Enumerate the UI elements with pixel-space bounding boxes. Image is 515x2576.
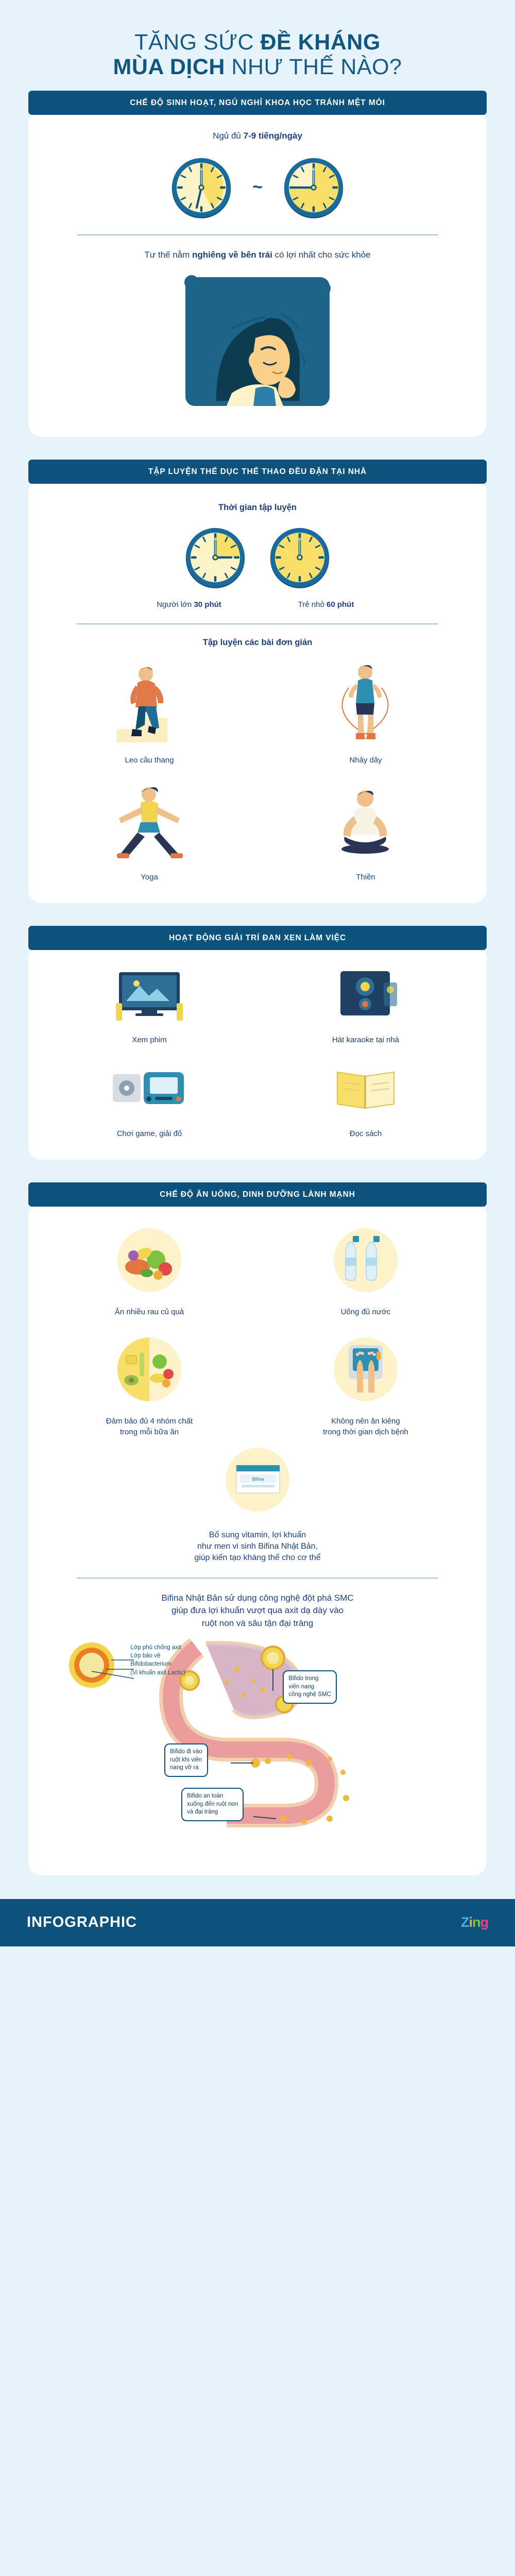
product-caption: Bổ sung vitamin, lợi khuẩn như men vi si… <box>46 1530 469 1564</box>
exercise-time-labels: Người lớn 30 phút Trẻ nhỏ 60 phút <box>46 594 469 610</box>
title-part-2: ĐỀ KHÁNG <box>260 30 380 55</box>
exercise-item-rope: Nhảy dây <box>262 657 469 766</box>
divider-sleep <box>77 234 438 235</box>
sleep-posture-text: Tư thế nằm nghiêng về bên trái có lợi nh… <box>46 249 469 262</box>
title-line-1: TĂNG SỨC ĐỀ KHÁNG <box>21 30 494 55</box>
posture-bold: nghiêng về bên trái <box>192 250 272 260</box>
posture-post: có lợi nhất cho sức khỏe <box>272 250 371 260</box>
approx-separator: ~ <box>252 177 263 197</box>
title-part-3: MÙA DỊCH <box>113 55 232 79</box>
child-time-bold: 60 phút <box>327 600 354 609</box>
leisure-item-karaoke: Hát karaoke tại nhà <box>262 965 469 1045</box>
title-part-4: NHƯ THẾ NÀO? <box>231 55 402 79</box>
section-card-sleep: Ngủ đủ 7-9 tiếng/ngày <box>28 110 487 436</box>
callout-capsule-smc: Bifido trong viên nang công nghệ SMC <box>283 1670 336 1704</box>
meditation-icon <box>322 779 409 864</box>
nutrition-grid: Ăn nhiều rau củ quả Uống đ <box>46 1222 469 1437</box>
leisure-grid: Xem phim Hát karaoke tại nhà <box>46 965 469 1139</box>
section-nutrition: CHẾ ĐỘ ĂN UỐNG, DINH DƯỠNG LÀNH MẠNH Ăn … <box>0 1182 515 1875</box>
zing-letter-g: g <box>480 1914 489 1930</box>
sleep-duration-normal: Ngủ đủ <box>213 131 244 141</box>
child-time-normal: Trẻ nhỏ <box>298 600 327 609</box>
exercise-time-subtitle: Thời gian tập luyện <box>46 503 469 513</box>
section-leisure: HOẠT ĐỘNG GIẢI TRÍ ĐAN XEN LÀM VIỆC Xem … <box>0 926 515 1160</box>
leisure-item-movie: Xem phim <box>46 965 253 1045</box>
movie-screen-icon <box>106 965 193 1027</box>
gut-illustration <box>46 1633 469 1855</box>
adult-time-bold: 30 phút <box>194 600 221 609</box>
divider-nutrition <box>77 1578 438 1579</box>
zing-letter-n: n <box>472 1914 480 1930</box>
title-part-1: TĂNG SỨC <box>134 30 260 55</box>
exercise-item-yoga: Yoga <box>46 779 253 883</box>
leisure-label-karaoke: Hát karaoke tại nhà <box>262 1035 469 1045</box>
divider-exercise <box>77 623 438 624</box>
diagram-legend: Lớp phủ chống axit Lớp bảo vệ Bifidobact… <box>130 1643 185 1677</box>
smc-paragraph: Bifina Nhật Bản sử dụng công nghệ đột ph… <box>46 1592 469 1630</box>
leisure-label-game: Chơi game, giải đố <box>46 1128 253 1139</box>
child-time-label: Trẻ nhỏ 60 phút <box>280 599 372 610</box>
nutrition-label-balanced: Đảm bảo đủ 4 nhóm chất trong mỗi bữa ăn <box>46 1416 253 1437</box>
leisure-item-book: Đọc sách <box>262 1059 469 1139</box>
product-brand-text: Bifina <box>252 1477 264 1482</box>
bifina-product-box-icon: Bifina <box>219 1443 296 1520</box>
sleeping-woman-illustration <box>154 262 360 416</box>
digestive-diagram: Lớp phủ chống axit Lớp bảo vệ Bifidobact… <box>46 1633 469 1855</box>
section-exercise: TẬP LUYỆN THỂ DỤC THỂ THAO ĐỀU ĐẶN TẠI N… <box>0 460 515 903</box>
footer-infographic-label: INFOGRAPHIC <box>27 1914 137 1931</box>
adult-time-label: Người lớn 30 phút <box>143 599 235 610</box>
exercise-label-stairs: Leo cầu thang <box>46 755 253 766</box>
nutrition-item-water: Uống đủ nước <box>262 1222 469 1317</box>
exercise-clock-row <box>46 524 469 591</box>
nutrition-item-no-diet: Không nên ăn kiêng trong thời gian dịch … <box>262 1331 469 1437</box>
callout-reach-colon: Bifido an toàn xuống đến ruột non và đại… <box>181 1788 244 1822</box>
nutrition-label-water: Uống đủ nước <box>262 1307 469 1317</box>
stairs-climb-icon <box>106 657 193 747</box>
leisure-label-book: Đọc sách <box>262 1128 469 1139</box>
section-header-exercise: TẬP LUYỆN THỂ DỤC THỂ THAO ĐỀU ĐẶN TẠI N… <box>28 460 487 484</box>
weight-scale-icon <box>327 1331 404 1408</box>
clock-60-minutes-icon <box>266 524 333 591</box>
posture-pre: Tư thế nằm <box>144 250 192 260</box>
exercise-label-yoga: Yoga <box>46 872 253 883</box>
balanced-meal-icon <box>111 1331 188 1408</box>
section-header-leisure: HOẠT ĐỘNG GIẢI TRÍ ĐAN XEN LÀM VIỆC <box>28 926 487 950</box>
sleep-duration-bold: 7-9 tiếng/ngày <box>244 131 302 141</box>
exercise-label-meditation: Thiền <box>262 872 469 883</box>
product-block: Bifina Bổ sung vitamin, lợi khuẩn như me… <box>46 1443 469 1564</box>
section-sleep: CHẾ ĐỘ SINH HOẠT, NGỦ NGHỈ KHOA HỌC TRÁN… <box>0 91 515 436</box>
footer: INFOGRAPHIC Zing <box>0 1899 515 1946</box>
section-header-sleep: CHẾ ĐỘ SINH HOẠT, NGỦ NGHỈ KHOA HỌC TRÁN… <box>28 91 487 115</box>
section-card-nutrition: Ăn nhiều rau củ quả Uống đ <box>28 1202 487 1875</box>
zing-logo[interactable]: Zing <box>461 1914 488 1930</box>
water-bottles-icon <box>327 1222 404 1299</box>
clock-30-minutes-icon <box>182 524 249 591</box>
leisure-item-game: Chơi game, giải đố <box>46 1059 253 1139</box>
nutrition-item-balanced: Đảm bảo đủ 4 nhóm chất trong mỗi bữa ăn <box>46 1331 253 1437</box>
section-card-leisure: Xem phim Hát karaoke tại nhà <box>28 945 487 1160</box>
leisure-label-movie: Xem phim <box>46 1035 253 1045</box>
fruits-vegetables-icon <box>111 1222 188 1299</box>
nutrition-item-vegetables: Ăn nhiều rau củ quả <box>46 1222 253 1317</box>
sleep-duration-text: Ngủ đủ 7-9 tiếng/ngày <box>46 130 469 143</box>
nutrition-label-vegetables: Ăn nhiều rau củ quả <box>46 1307 253 1317</box>
exercise-item-meditation: Thiền <box>262 779 469 883</box>
clock-row: ~ <box>46 154 469 221</box>
jump-rope-icon <box>322 657 409 747</box>
callout-capsule-break: Bifido đi vào ruột khi viên nang vỡ ra <box>164 1743 208 1777</box>
yoga-pose-icon <box>106 779 193 864</box>
open-book-icon <box>322 1059 409 1121</box>
clock-7-hours-icon <box>168 154 235 221</box>
karaoke-speaker-icon <box>322 965 409 1027</box>
section-card-exercise: Thời gian tập luyện <box>28 479 487 903</box>
title-line-2: MÙA DỊCH NHƯ THẾ NÀO? <box>21 55 494 79</box>
exercise-grid: Leo cầu thang Nhảy dây <box>46 657 469 883</box>
simple-exercise-subtitle: Tập luyện các bài đơn giản <box>46 638 469 648</box>
clock-9-hours-icon <box>280 154 347 221</box>
zing-letter-z: Z <box>461 1914 469 1930</box>
page-title: TĂNG SỨC ĐỀ KHÁNG MÙA DỊCH NHƯ THẾ NÀO? <box>0 0 515 91</box>
adult-time-normal: Người lớn <box>157 600 194 609</box>
nutrition-label-no-diet: Không nên ăn kiêng trong thời gian dịch … <box>262 1416 469 1437</box>
exercise-item-stairs: Leo cầu thang <box>46 657 253 766</box>
section-header-nutrition: CHẾ ĐỘ ĂN UỐNG, DINH DƯỠNG LÀNH MẠNH <box>28 1182 487 1207</box>
exercise-label-rope: Nhảy dây <box>262 755 469 766</box>
game-console-icon <box>106 1059 193 1121</box>
